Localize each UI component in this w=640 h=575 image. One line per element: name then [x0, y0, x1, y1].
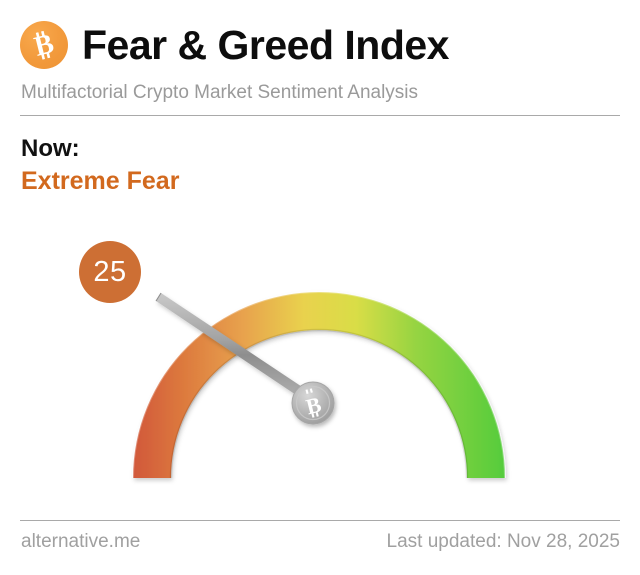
page-subtitle: Multifactorial Crypto Market Sentiment A… [21, 82, 418, 104]
page-title: Fear & Greed Index [82, 25, 449, 66]
index-value: 25 [93, 258, 126, 287]
fear-greed-index-widget: B Fear & Greed Index Multifactorial Cryp… [0, 0, 640, 575]
gauge-chart: B [0, 185, 640, 505]
bitcoin-icon: B [20, 21, 68, 69]
header-divider [20, 115, 620, 116]
gauge-svg: B [0, 185, 640, 505]
index-value-badge: 25 [79, 241, 141, 303]
now-label: Now: [21, 136, 80, 161]
needle-hub: B [292, 382, 334, 424]
source-label: alternative.me [21, 531, 140, 553]
header: B Fear & Greed Index [20, 18, 620, 72]
last-updated-label: Last updated: Nov 28, 2025 [387, 531, 620, 553]
footer-divider [20, 520, 620, 521]
